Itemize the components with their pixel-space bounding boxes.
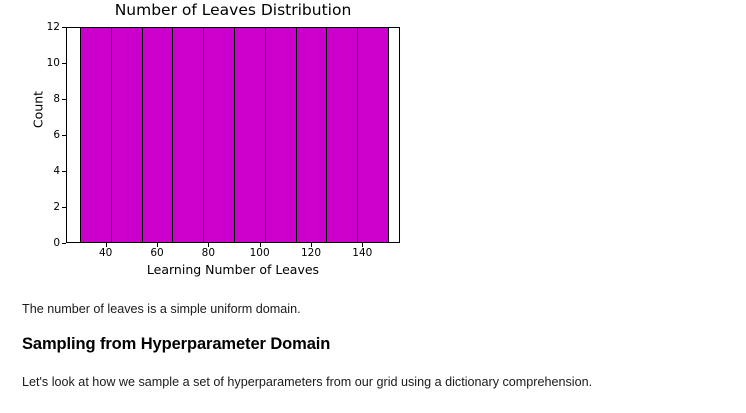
y-tick-label: 0 <box>0 237 60 249</box>
x-tick-label: 100 <box>240 247 280 259</box>
paragraph-leaves-domain: The number of leaves is a simple uniform… <box>22 301 301 317</box>
bar <box>203 27 235 243</box>
histogram-figure: Number of Leaves Distribution 024681012 … <box>0 0 420 290</box>
x-tick-mark <box>106 243 107 247</box>
paragraph-sampling-intro: Let's look at how we sample a set of hyp… <box>22 374 592 390</box>
bar <box>234 27 266 243</box>
x-tick-label: 120 <box>291 247 331 259</box>
y-tick-mark <box>62 99 66 100</box>
bar <box>80 27 112 243</box>
x-tick-label: 60 <box>137 247 177 259</box>
bar <box>142 27 174 243</box>
heading-sampling-from-hyperparameter-domain: Sampling from Hyperparameter Domain <box>22 335 330 354</box>
y-tick-label: 2 <box>0 201 60 213</box>
y-tick-mark <box>62 243 66 244</box>
y-tick-label: 4 <box>0 165 60 177</box>
x-tick-label: 40 <box>86 247 126 259</box>
bar <box>357 27 389 243</box>
y-tick-mark <box>62 135 66 136</box>
bar <box>172 27 204 243</box>
y-tick-mark <box>62 27 66 28</box>
y-tick-label: 12 <box>0 21 60 33</box>
x-tick-mark <box>260 243 261 247</box>
y-axis-label: Count <box>31 70 46 150</box>
x-axis-label: Learning Number of Leaves <box>66 262 400 277</box>
x-tick-label: 80 <box>188 247 228 259</box>
bar <box>111 27 143 243</box>
y-tick-mark <box>62 63 66 64</box>
chart-title: Number of Leaves Distribution <box>66 1 400 19</box>
x-tick-mark <box>157 243 158 247</box>
bar <box>265 27 297 243</box>
x-tick-mark <box>362 243 363 247</box>
y-tick-mark <box>62 207 66 208</box>
bar <box>296 27 328 243</box>
bar-series <box>80 27 388 243</box>
y-tick-mark <box>62 171 66 172</box>
x-tick-mark <box>311 243 312 247</box>
notebook-page: Number of Leaves Distribution 024681012 … <box>0 0 746 413</box>
x-tick-mark <box>208 243 209 247</box>
bar <box>326 27 358 243</box>
x-tick-label: 140 <box>342 247 382 259</box>
y-tick-label: 10 <box>0 57 60 69</box>
